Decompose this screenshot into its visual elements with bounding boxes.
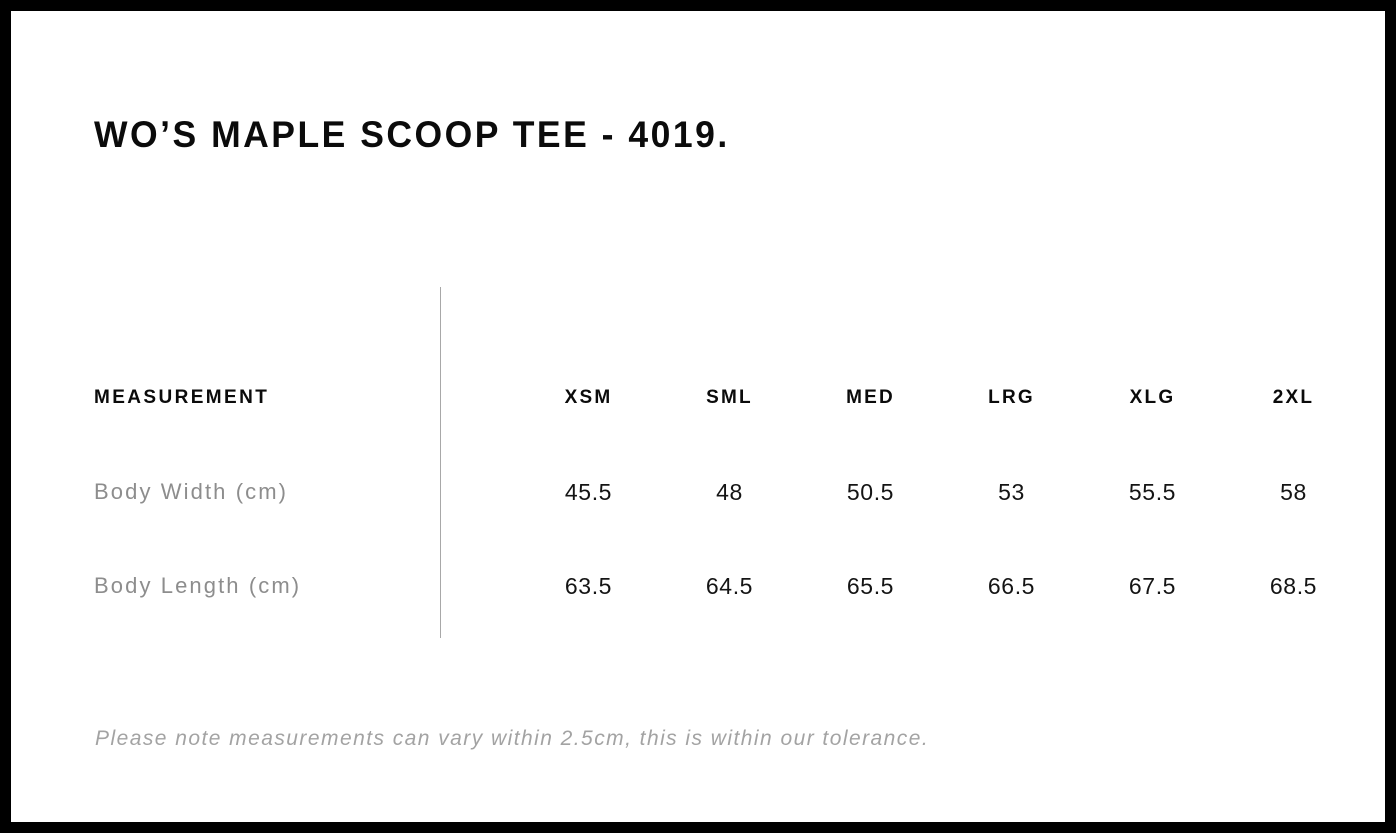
body-length-values: 63.5 64.5 65.5 66.5 67.5 68.5 <box>518 573 1364 600</box>
size-table: MEASUREMENT XSM SML MED LRG XLG 2XL Body… <box>94 351 1364 633</box>
column-header-med: MED <box>800 387 941 409</box>
cell-body-length-sml: 64.5 <box>659 573 800 600</box>
column-header-sml: SML <box>659 387 800 409</box>
row-label-body-width: Body Width (cm) <box>94 479 518 505</box>
cell-body-width-2xl: 58 <box>1223 479 1364 506</box>
table-row: Body Width (cm) 45.5 48 50.5 53 55.5 58 <box>94 445 1364 539</box>
table-header-row: MEASUREMENT XSM SML MED LRG XLG 2XL <box>94 351 1364 445</box>
cell-body-width-med: 50.5 <box>800 479 941 506</box>
cell-body-length-2xl: 68.5 <box>1223 573 1364 600</box>
cell-body-length-med: 65.5 <box>800 573 941 600</box>
column-header-2xl: 2XL <box>1223 387 1364 409</box>
page-title: WO’S MAPLE SCOOP TEE - 4019. <box>94 114 730 156</box>
size-chart-frame: WO’S MAPLE SCOOP TEE - 4019. MEASUREMENT… <box>0 0 1396 833</box>
table-row: Body Length (cm) 63.5 64.5 65.5 66.5 67.… <box>94 539 1364 633</box>
column-header-xsm: XSM <box>518 387 659 409</box>
column-header-measurement: MEASUREMENT <box>94 387 518 409</box>
size-header-cells: XSM SML MED LRG XLG 2XL <box>518 387 1364 409</box>
cell-body-length-xsm: 63.5 <box>518 573 659 600</box>
cell-body-length-xlg: 67.5 <box>1082 573 1223 600</box>
column-header-lrg: LRG <box>941 387 1082 409</box>
cell-body-width-xsm: 45.5 <box>518 479 659 506</box>
row-label-body-length: Body Length (cm) <box>94 573 518 599</box>
column-header-xlg: XLG <box>1082 387 1223 409</box>
body-width-values: 45.5 48 50.5 53 55.5 58 <box>518 479 1364 506</box>
cell-body-length-lrg: 66.5 <box>941 573 1082 600</box>
cell-body-width-xlg: 55.5 <box>1082 479 1223 506</box>
cell-body-width-sml: 48 <box>659 479 800 506</box>
tolerance-note: Please note measurements can vary within… <box>95 727 929 751</box>
cell-body-width-lrg: 53 <box>941 479 1082 506</box>
